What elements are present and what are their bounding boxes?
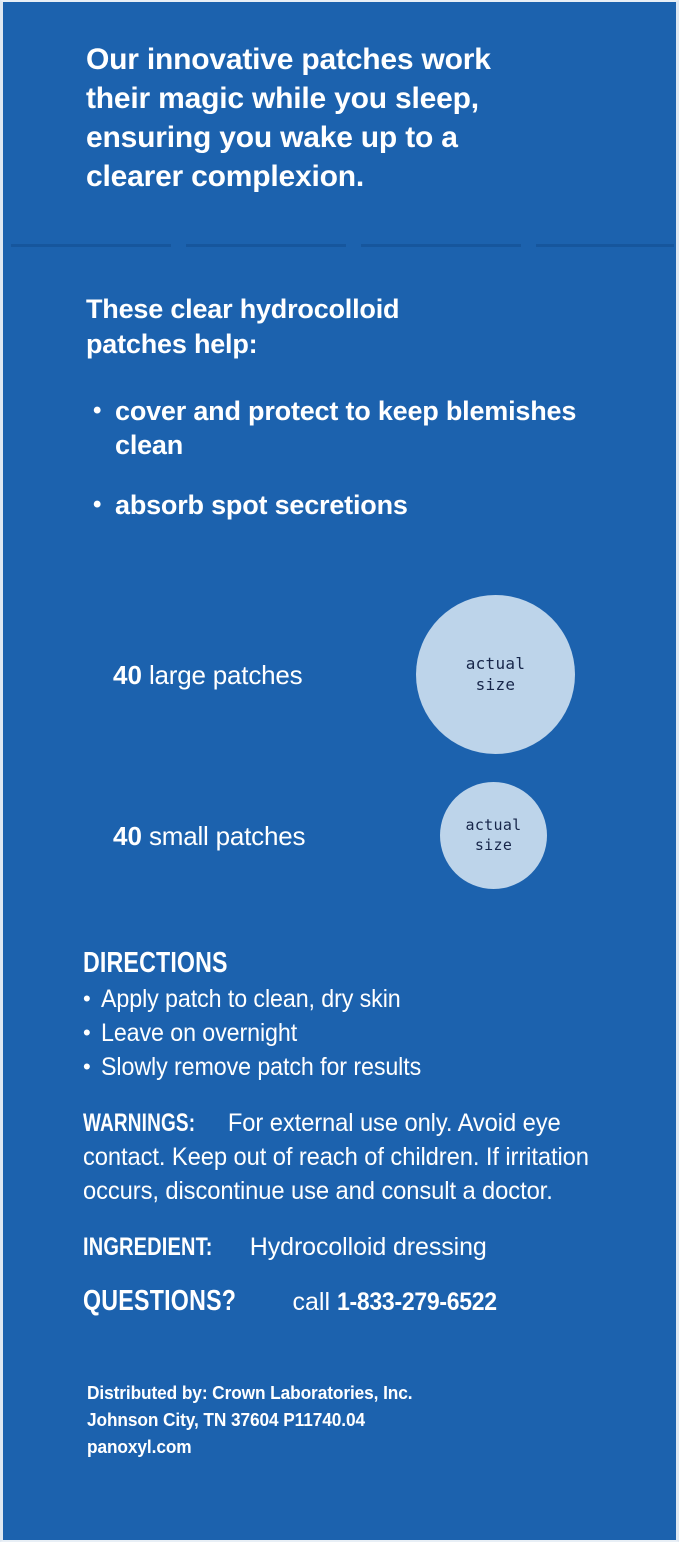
direction-text: Slowly remove patch for results bbox=[101, 1050, 586, 1084]
actual-size-badge-small: actual size bbox=[440, 782, 547, 889]
patch-count-small: 40 bbox=[113, 821, 142, 851]
list-item: • Slowly remove patch for results bbox=[83, 1050, 623, 1084]
bullet-icon: • bbox=[83, 1050, 101, 1084]
questions-block: QUESTIONS? call 1-833-279-6522 bbox=[83, 1284, 623, 1319]
bullet-icon: • bbox=[83, 982, 101, 1016]
hero-line-3: ensuring you wake up to a bbox=[86, 118, 616, 157]
warnings-block: WARNINGS: For external use only. Avoid e… bbox=[83, 1106, 623, 1208]
questions-call: call 1-833-279-6522 bbox=[293, 1285, 511, 1319]
patch-count-large: 40 bbox=[113, 660, 142, 690]
list-item: • absorb spot secretions bbox=[93, 488, 623, 522]
warnings-heading: WARNINGS: bbox=[83, 1106, 195, 1140]
subhead-line-2: patches help: bbox=[86, 327, 606, 362]
subhead-line-1: These clear hydrocolloid bbox=[86, 292, 606, 327]
call-label: call bbox=[293, 1288, 337, 1316]
list-item: • Apply patch to clean, dry skin bbox=[83, 982, 623, 1016]
direction-text: Leave on overnight bbox=[101, 1016, 586, 1050]
bullet-icon: • bbox=[93, 394, 115, 428]
patch-label-large: 40 large patches bbox=[113, 660, 302, 690]
questions-heading: QUESTIONS? bbox=[83, 1284, 236, 1318]
actual-size-line-2: size bbox=[476, 675, 516, 695]
bullet-icon: • bbox=[83, 1016, 101, 1050]
benefit-text: absorb spot secretions bbox=[115, 488, 623, 522]
product-packaging-panel: Our innovative patches work their magic … bbox=[0, 0, 679, 1542]
hero-line-1: Our innovative patches work bbox=[86, 40, 616, 79]
actual-size-line-2: size bbox=[475, 836, 512, 855]
footer-distributor: Distributed by: Crown Laboratories, Inc.… bbox=[87, 1380, 607, 1461]
list-item: • cover and protect to keep blemishes cl… bbox=[93, 394, 623, 462]
patch-name-small: small patches bbox=[142, 821, 305, 851]
ingredient-body: Hydrocolloid dressing bbox=[243, 1233, 487, 1261]
bullet-icon: • bbox=[93, 488, 115, 522]
subhead: These clear hydrocolloid patches help: bbox=[86, 292, 606, 362]
section-divider bbox=[11, 244, 674, 247]
hero-line-2: their magic while you sleep, bbox=[86, 79, 616, 118]
phone-number[interactable]: 1-833-279-6522 bbox=[337, 1285, 497, 1319]
hero-headline: Our innovative patches work their magic … bbox=[86, 40, 616, 196]
benefit-text: cover and protect to keep blemishes clea… bbox=[115, 394, 623, 462]
footer-line-1: Distributed by: Crown Laboratories, Inc. bbox=[87, 1380, 586, 1407]
actual-size-badge-large: actual size bbox=[416, 595, 575, 754]
hero-line-4: clearer complexion. bbox=[86, 157, 616, 196]
ingredient-heading: INGREDIENT: bbox=[83, 1230, 213, 1264]
direction-text: Apply patch to clean, dry skin bbox=[101, 982, 586, 1016]
info-block: DIRECTIONS • Apply patch to clean, dry s… bbox=[83, 946, 623, 1319]
patch-label-small: 40 small patches bbox=[113, 821, 305, 851]
patch-name-large: large patches bbox=[142, 660, 303, 690]
directions-heading: DIRECTIONS bbox=[83, 946, 228, 980]
ingredient-block: INGREDIENT: Hydrocolloid dressing bbox=[83, 1230, 623, 1264]
footer-line-3[interactable]: panoxyl.com bbox=[87, 1434, 586, 1461]
actual-size-line-1: actual bbox=[466, 654, 526, 674]
footer-line-2: Johnson City, TN 37604 P11740.04 bbox=[87, 1407, 586, 1434]
actual-size-line-1: actual bbox=[466, 816, 522, 835]
benefit-list: • cover and protect to keep blemishes cl… bbox=[93, 394, 623, 548]
list-item: • Leave on overnight bbox=[83, 1016, 623, 1050]
directions-list: • Apply patch to clean, dry skin • Leave… bbox=[83, 982, 623, 1084]
